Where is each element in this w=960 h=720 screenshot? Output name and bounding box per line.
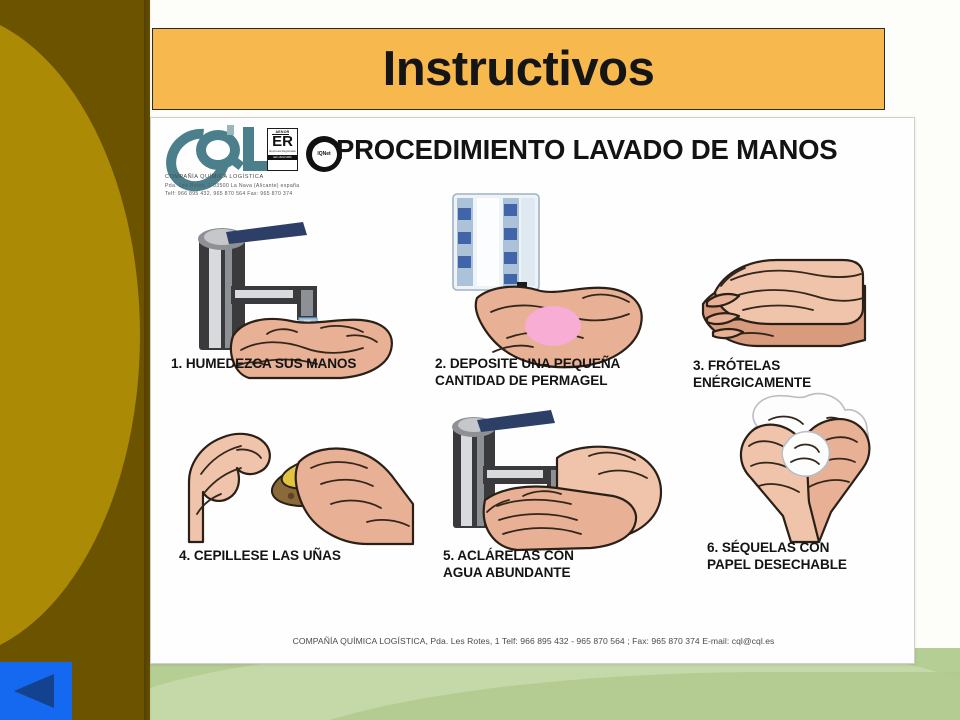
previous-slide-button[interactable] xyxy=(0,662,72,720)
step-caption-3: 3. FRÓTELAS ENÉRGICAMENTE xyxy=(693,358,913,392)
steps-grid: 1. HUMEDEZCA SUS MANOS xyxy=(151,200,916,620)
handwashing-poster: COMPAÑÍA QUÍMICA LOGÍSTICA Pda. Les Rote… xyxy=(150,117,915,664)
aenor-description: Empresa Registrada xyxy=(269,150,295,154)
aenor-certification-mark: AENOR ER Empresa Registrada ER-1622/1996 xyxy=(267,128,298,171)
faucet-rinsing-illustration xyxy=(439,400,674,555)
slide-title-banner: Instructivos xyxy=(152,28,885,110)
step-caption-2-line-1: 2. DEPOSITE UNA PEQUEÑA xyxy=(435,356,685,373)
logo-address-line-2: Telf: 966 895 432, 965 870 564 Fax: 965 … xyxy=(165,190,293,198)
logo-company-line: COMPAÑÍA QUÍMICA LOGÍSTICA xyxy=(165,173,293,182)
slide-canvas: Instructivos COMPAÑÍA QUÍMICA LOGÍSTICA … xyxy=(0,0,960,720)
step-item-6: 6. SÉQUELAS CON PAPEL DESECHABLE xyxy=(703,390,923,590)
aenor-er-text: ER xyxy=(272,133,293,150)
logo-chimney-shape xyxy=(227,125,234,135)
step-caption-5-line-2: AGUA ABUNDANTE xyxy=(443,565,693,582)
dispenser-gel-illustration xyxy=(433,186,663,384)
step-caption-5-line-1: 5. ACLÁRELAS CON xyxy=(443,548,693,565)
step-item-2: 2. DEPOSITE UNA PEQUEÑA CANTIDAD DE PERM… xyxy=(433,186,683,406)
step-caption-4: 4. CEPILLESE LAS UÑAS xyxy=(179,548,439,565)
step-caption-1: 1. HUMEDEZCA SUS MANOS xyxy=(171,356,421,373)
step-caption-2: 2. DEPOSITE UNA PEQUEÑA CANTIDAD DE PERM… xyxy=(435,356,685,390)
iqnet-label: IQNet xyxy=(317,151,330,157)
triangle-left-icon xyxy=(14,674,54,708)
step-caption-6: 6. SÉQUELAS CON PAPEL DESECHABLE xyxy=(707,540,927,574)
aenor-code: ER-1622/1996 xyxy=(268,155,297,160)
aenor-er-mark: ER xyxy=(272,134,293,149)
paper-towel-drying-illustration xyxy=(703,390,908,550)
hands-rubbing-illustration xyxy=(691,236,891,371)
poster-footer-text: COMPAÑÍA QUÍMICA LOGÍSTICA, Pda. Les Rot… xyxy=(293,636,775,646)
poster-footer: COMPAÑÍA QUÍMICA LOGÍSTICA, Pda. Les Rot… xyxy=(151,631,916,649)
step-caption-3-line-1: 3. FRÓTELAS xyxy=(693,358,913,375)
step-item-1: 1. HUMEDEZCA SUS MANOS xyxy=(171,208,421,408)
logo-address-line-1: Pda. Les Rotes, 1 03500 La Nava (Alicant… xyxy=(165,182,293,190)
logo-subtext: COMPAÑÍA QUÍMICA LOGÍSTICA Pda. Les Rote… xyxy=(165,173,293,198)
iqnet-ring: IQNet xyxy=(312,142,337,167)
page-title: Instructivos xyxy=(383,45,655,94)
nail-brush-illustration xyxy=(171,420,421,550)
step-item-4: 4. CEPILLESE LAS UÑAS xyxy=(171,420,431,600)
cql-wordmark xyxy=(165,127,283,173)
cql-logo: COMPAÑÍA QUÍMICA LOGÍSTICA Pda. Les Rote… xyxy=(165,127,283,193)
step-item-5: 5. ACLÁRELAS CON AGUA ABUNDANTE xyxy=(439,400,689,600)
step-caption-5: 5. ACLÁRELAS CON AGUA ABUNDANTE xyxy=(443,548,693,582)
step-caption-2-line-2: CANTIDAD DE PERMAGEL xyxy=(435,373,685,390)
poster-heading-text: PROCEDIMIENTO LAVADO DE MANOS xyxy=(336,134,837,166)
poster-heading: PROCEDIMIENTO LAVADO DE MANOS xyxy=(336,130,906,170)
step-item-3: 3. FRÓTELAS ENÉRGICAMENTE xyxy=(691,236,911,416)
step-caption-6-line-1: 6. SÉQUELAS CON xyxy=(707,540,927,557)
step-caption-6-line-2: PAPEL DESECHABLE xyxy=(707,557,927,574)
